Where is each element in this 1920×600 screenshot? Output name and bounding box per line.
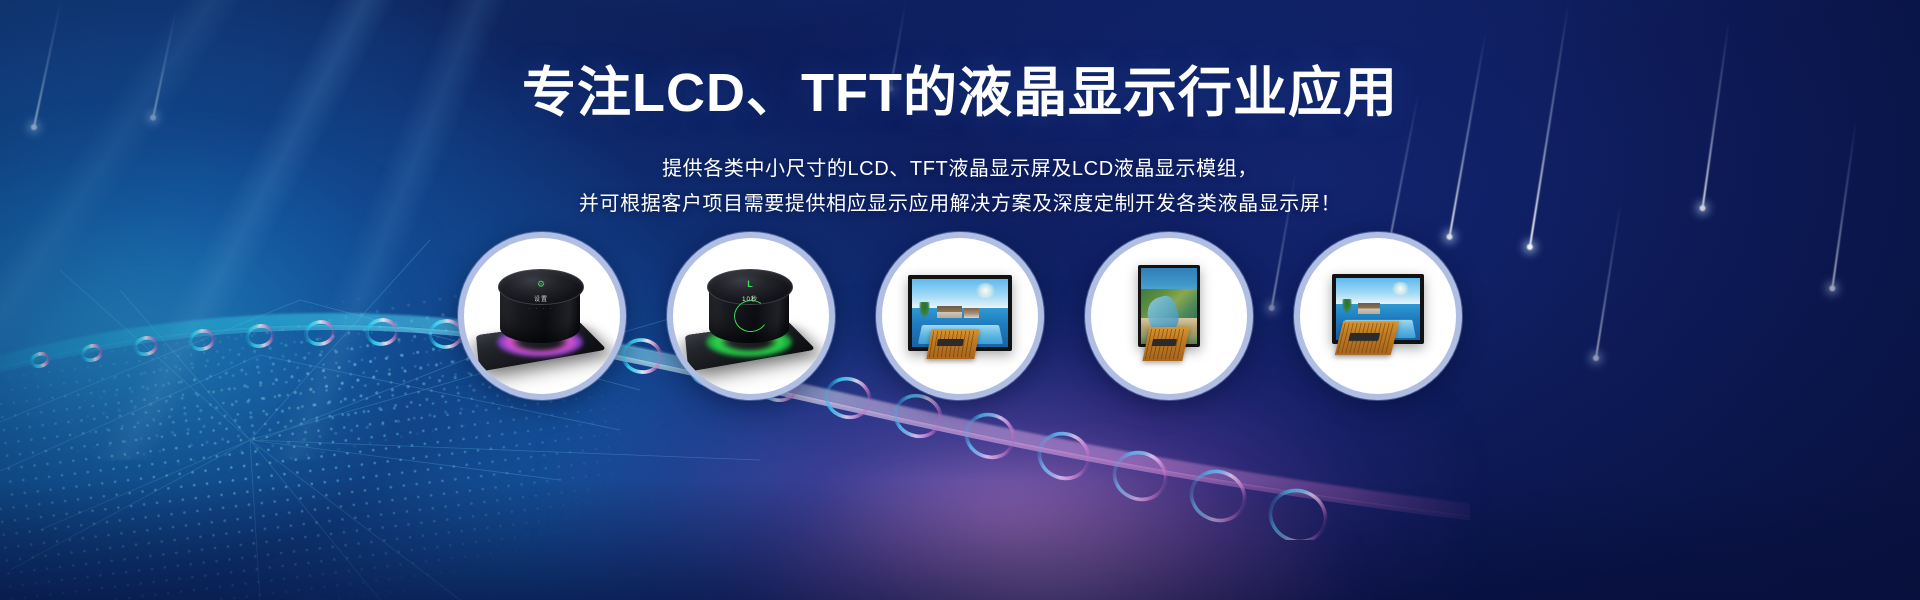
speaker-face-label: 10秒 [708, 294, 792, 303]
scene-hut [937, 306, 962, 318]
subtitle-line-1: 提供各类中小尺寸的LCD、TFT液晶显示屏及LCD液晶显示模组， [0, 152, 1920, 187]
speaker-face-label: 设置 [499, 294, 583, 303]
product-image-tft-lcd-beach-wide [1300, 238, 1456, 394]
flex-ribbon-cable [1142, 327, 1189, 361]
banner-text-block: 专注LCD、TFT的液晶显示行业应用 提供各类中小尺寸的LCD、TFT液晶显示屏… [0, 62, 1920, 222]
scene-palm-tree [1341, 299, 1353, 315]
tft-display-illustration [885, 241, 1035, 391]
flex-ribbon-cable [926, 329, 979, 359]
product-circle-smart-speaker-purple[interactable]: ⚙ 设置 · · · · [458, 232, 626, 400]
scene-palm-tree [918, 302, 931, 320]
speaker-illustration: ⚙ 设置 · · · · [467, 241, 617, 391]
tft-display-illustration [1094, 241, 1244, 391]
product-circle-row: ⚙ 设置 · · · · L [0, 232, 1920, 400]
driver-chip [1348, 333, 1380, 341]
product-circle-tft-lcd-beach-landscape[interactable] [876, 232, 1044, 400]
speaker-face-content: L 10秒 [708, 274, 792, 303]
subtitle-line-2: 并可根据客户项目需要提供相应显示应用解决方案及深度定制开发各类液晶显示屏！ [0, 187, 1920, 222]
product-circle-tft-lcd-beach-wide[interactable] [1294, 232, 1462, 400]
product-image-smart-speaker-purple: ⚙ 设置 · · · · [464, 238, 620, 394]
page-title: 专注LCD、TFT的液晶显示行业应用 [0, 62, 1920, 124]
scene-hut-secondary [964, 308, 979, 318]
speaker-face-dots: · · · · [499, 306, 583, 312]
scene-hut [1358, 303, 1380, 314]
flex-ribbon-cable [1335, 321, 1399, 355]
product-circle-smart-speaker-green[interactable]: L 10秒 [667, 232, 835, 400]
speaker-face-content: ⚙ 设置 · · · · [499, 274, 583, 312]
gear-icon: ⚙ [537, 280, 545, 289]
tft-display-illustration [1303, 241, 1453, 391]
speaker-illustration: L 10秒 [676, 241, 826, 391]
product-image-smart-speaker-green: L 10秒 [673, 238, 829, 394]
bolt-icon: L [747, 280, 753, 289]
driver-chip [937, 339, 964, 346]
speaker-top-face: ⚙ 设置 · · · · [498, 269, 584, 305]
product-image-tft-lcd-river-portrait [1091, 238, 1247, 394]
speaker-top-face: L 10秒 [707, 269, 793, 305]
product-image-tft-lcd-beach-landscape [882, 238, 1038, 394]
hero-banner: 专注LCD、TFT的液晶显示行业应用 提供各类中小尺寸的LCD、TFT液晶显示屏… [0, 0, 1920, 600]
driver-chip [1152, 339, 1177, 346]
product-circle-tft-lcd-river-portrait[interactable] [1085, 232, 1253, 400]
bottom-fade-overlay [0, 480, 1920, 600]
